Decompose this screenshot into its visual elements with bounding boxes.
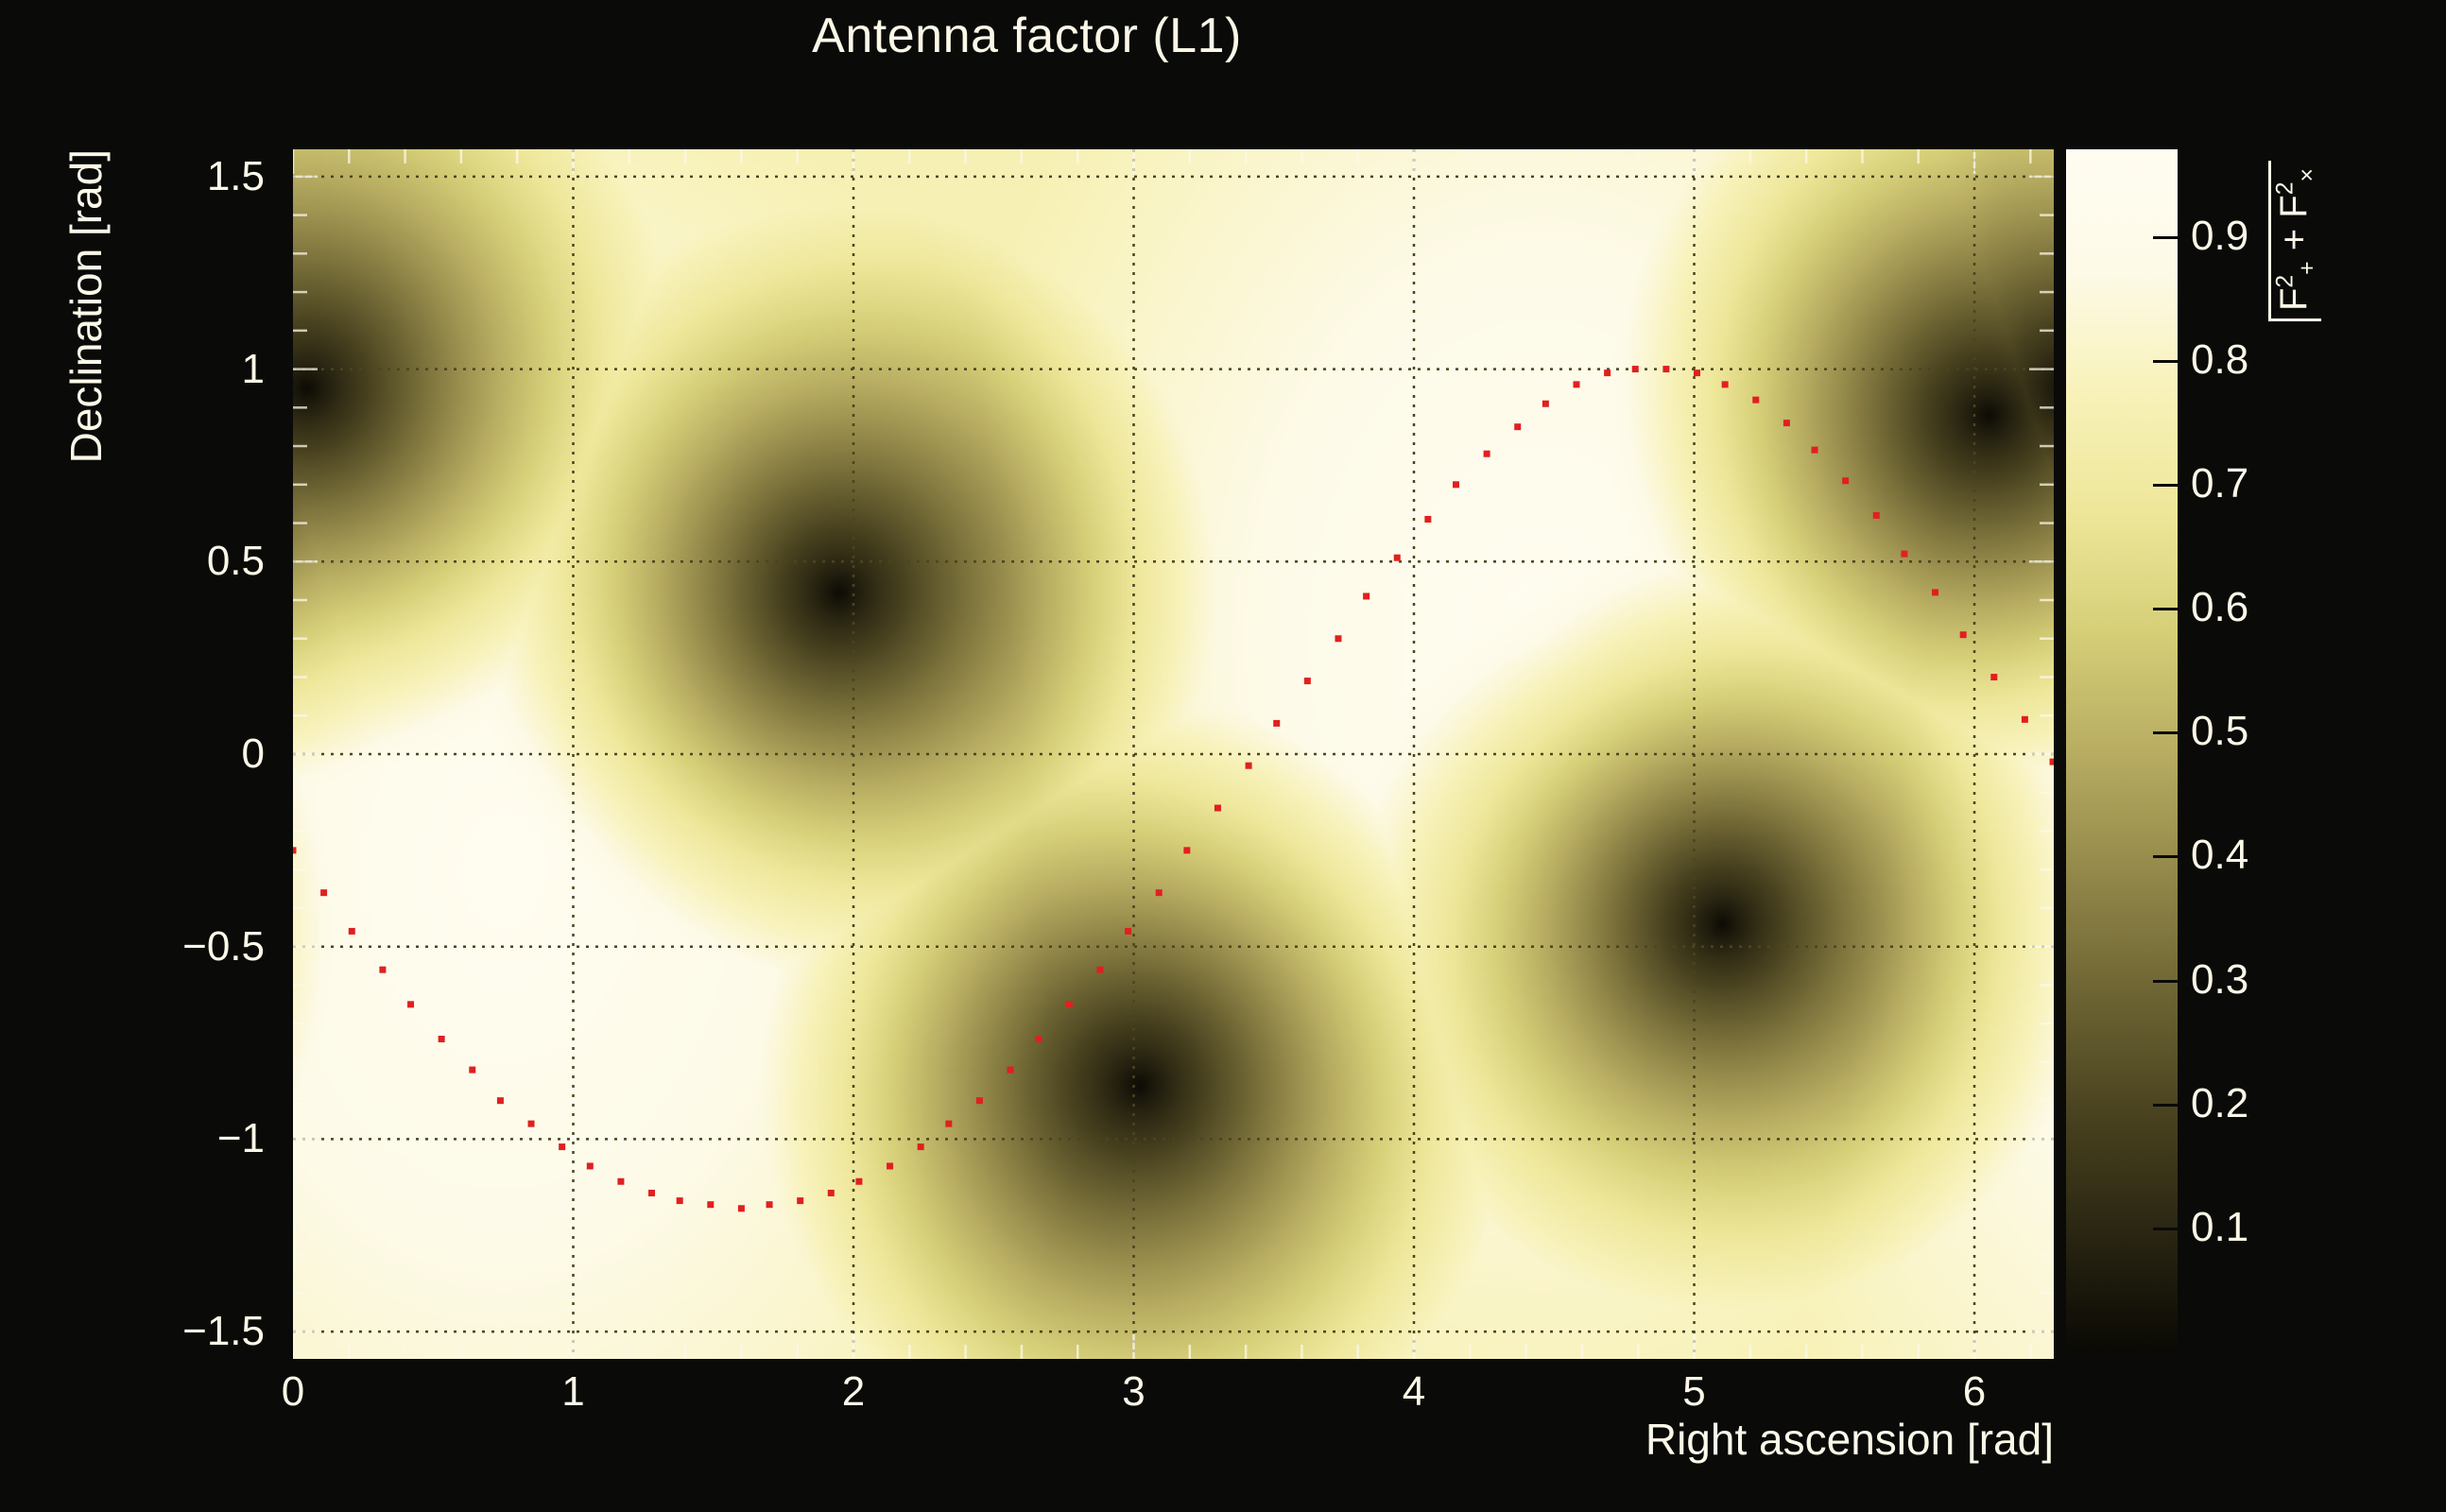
overlay-marker	[707, 1201, 714, 1208]
overlay-marker	[1842, 477, 1849, 484]
colorbar-tickmark	[2153, 980, 2178, 983]
overlay-marker	[528, 1121, 535, 1127]
x-tick-label: 1	[561, 1368, 584, 1416]
overlay-markers-layer	[293, 149, 2054, 1359]
overlay-marker	[349, 928, 355, 935]
overlay-marker	[617, 1178, 624, 1185]
colorbar-tick-label: 0.7	[2191, 460, 2248, 507]
colorbar-tick-label: 0.4	[2191, 832, 2248, 879]
overlay-marker	[469, 1067, 475, 1074]
overlay-marker	[1183, 847, 1190, 853]
overlay-marker	[1632, 366, 1639, 372]
sqrt-radical: F2+ + F2×	[2268, 161, 2321, 321]
y-tick-label: −1	[76, 1115, 265, 1162]
colorbar-tickmark	[2153, 731, 2178, 734]
overlay-marker	[677, 1197, 683, 1204]
x-tick-label: 6	[1963, 1368, 1986, 1416]
page-title: Antenna factor (L1)	[0, 8, 2054, 64]
overlay-marker	[738, 1205, 745, 1211]
overlay-marker	[887, 1162, 893, 1169]
overlay-marker	[1514, 423, 1521, 430]
f-cross-term: F2×	[2273, 168, 2315, 218]
overlay-marker	[1035, 1036, 1042, 1042]
overlay-marker	[439, 1036, 445, 1042]
overlay-marker	[1752, 397, 1759, 404]
overlay-marker	[1273, 720, 1280, 727]
overlay-marker	[1990, 674, 1997, 680]
overlay-marker	[559, 1143, 565, 1150]
colorbar-tickmark	[2153, 1228, 2178, 1230]
overlay-marker	[320, 889, 327, 896]
colorbar-tickmark	[2153, 608, 2178, 610]
overlay-marker	[1722, 381, 1729, 387]
overlay-marker	[407, 1001, 414, 1007]
f-plus-term: F2+	[2273, 261, 2315, 311]
plus-operator: +	[2273, 229, 2315, 250]
x-tick-label: 5	[1682, 1368, 1705, 1416]
overlay-marker	[1960, 631, 1967, 638]
colorbar-tickmark	[2153, 236, 2178, 239]
x-axis-title: Right ascension [rad]	[1645, 1414, 2054, 1465]
colorbar-tick-label: 0.8	[2191, 336, 2248, 384]
overlay-marker	[497, 1097, 504, 1104]
colorbar-tick-label: 0.1	[2191, 1204, 2248, 1251]
overlay-marker	[767, 1201, 773, 1208]
colorbar-tick-label: 0.5	[2191, 708, 2248, 755]
overlay-marker	[828, 1190, 835, 1196]
overlay-marker	[1901, 551, 1907, 558]
overlay-marker	[2050, 759, 2054, 765]
colorbar-tickmark	[2153, 855, 2178, 858]
y-tick-label: 0	[76, 730, 265, 778]
overlay-marker	[293, 847, 297, 853]
overlay-marker	[855, 1178, 862, 1185]
colorbar-tick-label: 0.3	[2191, 956, 2248, 1004]
overlay-marker	[1453, 481, 1459, 488]
colorbar-gradient	[2066, 149, 2178, 1351]
overlay-marker	[1812, 447, 1818, 454]
overlay-marker	[945, 1121, 952, 1127]
overlay-marker	[1424, 516, 1431, 523]
overlay-marker	[2022, 716, 2028, 723]
overlay-marker	[1604, 369, 1611, 376]
overlay-marker	[1008, 1067, 1014, 1074]
overlay-marker	[1662, 366, 1669, 372]
overlay-marker	[1304, 678, 1311, 684]
overlay-marker	[587, 1162, 594, 1169]
y-tick-label: −1.5	[76, 1308, 265, 1355]
overlay-marker	[1932, 589, 1938, 595]
overlay-marker	[1096, 967, 1103, 973]
y-tick-label: −0.5	[76, 923, 265, 971]
overlay-marker	[1394, 555, 1401, 561]
colorbar-tickmark	[2153, 484, 2178, 487]
y-tick-label: 1.5	[76, 153, 265, 200]
overlay-marker	[1363, 593, 1369, 599]
overlay-marker	[1873, 512, 1880, 519]
overlay-marker	[379, 967, 386, 973]
colorbar-tick-label: 0.9	[2191, 213, 2248, 260]
y-tick-label: 0.5	[76, 538, 265, 585]
overlay-marker	[1214, 805, 1221, 812]
x-tick-label: 4	[1403, 1368, 1425, 1416]
overlay-marker	[797, 1197, 803, 1204]
overlay-marker	[1694, 369, 1700, 376]
overlay-marker	[1335, 635, 1341, 642]
x-tick-label: 0	[282, 1368, 304, 1416]
colorbar-tick-label: 0.6	[2191, 584, 2248, 631]
x-tick-label: 3	[1122, 1368, 1145, 1416]
overlay-marker	[1542, 401, 1549, 407]
overlay-marker	[1484, 451, 1490, 457]
overlay-marker	[1066, 1001, 1073, 1007]
colorbar-tickmark	[2153, 360, 2178, 363]
overlay-marker	[1573, 381, 1579, 387]
colorbar-tick-label: 0.2	[2191, 1080, 2248, 1127]
overlay-marker	[1783, 420, 1790, 426]
colorbar-title: F2+ + F2×	[2268, 161, 2321, 323]
overlay-marker	[1125, 928, 1131, 935]
x-tick-label: 2	[842, 1368, 865, 1416]
overlay-marker	[648, 1190, 655, 1196]
colorbar	[2066, 149, 2178, 1351]
overlay-marker	[976, 1097, 983, 1104]
overlay-marker	[1246, 763, 1252, 769]
y-tick-label: 1	[76, 346, 265, 393]
colorbar-tickmark	[2153, 1104, 2178, 1107]
plot-area	[293, 149, 2054, 1359]
overlay-marker	[1156, 889, 1163, 896]
overlay-marker	[918, 1143, 924, 1150]
